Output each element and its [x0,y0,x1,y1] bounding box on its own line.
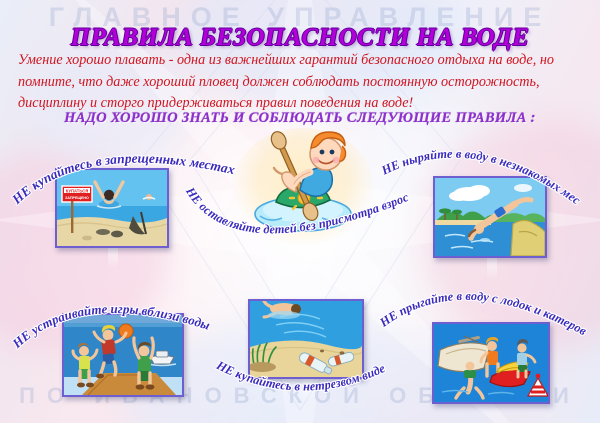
rule-image-no-dive-unknown-places [433,176,547,258]
rule-image-no-swim-forbidden-places: КУПАТЬСЯ ЗАПРЕЩЕНО [55,168,169,248]
subheading: НАДО ХОРОШО ЗНАТЬ И СОБЛЮДАТЬ СЛЕДУЮЩИЕ … [0,110,600,127]
page-title: ПРАВИЛА БЕЗОПАСНОСТИ НА ВОДЕ [0,24,600,52]
svg-text:КУПАТЬСЯ: КУПАТЬСЯ [66,188,89,193]
boy-in-kayak-illustration [238,130,368,240]
water-safety-poster: ГЛАВНОЕ УПРАВЛЕНИЕ ПО ИВАНОВСКОЙ ОБЛАСТИ… [0,0,600,423]
rule-image-no-jump-from-boats [432,322,550,404]
intro-line: Умение хорошо плавать - одна из важнейши… [18,50,586,72]
svg-text:ЗАПРЕЩЕНО: ЗАПРЕЩЕНО [65,196,89,200]
intro-paragraph: Умение хорошо плавать - одна из важнейши… [18,50,586,115]
rule-image-no-games-near-water [62,313,184,397]
intro-line: помните, что даже хороший пловец должен … [18,72,586,94]
rule-image-no-swim-drunk [248,299,364,379]
